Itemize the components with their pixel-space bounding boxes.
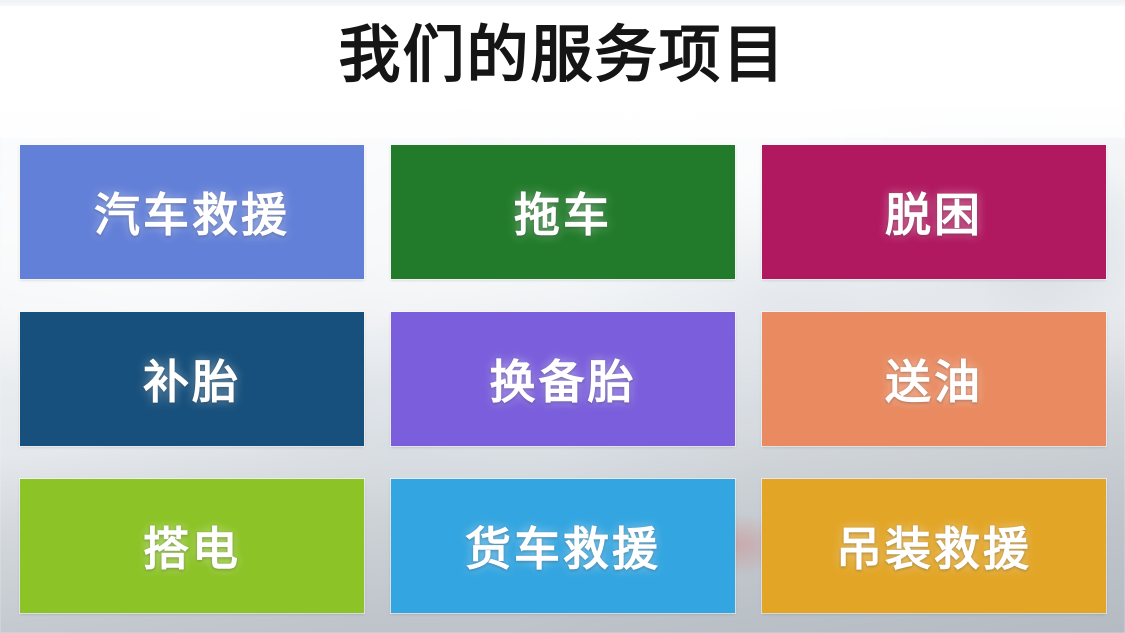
service-tile-9[interactable]: 吊装救援: [762, 479, 1106, 613]
service-tile-1[interactable]: 汽车救援: [20, 145, 364, 279]
service-tile-label: 搭电: [143, 513, 241, 579]
service-tile-label: 吊装救援: [836, 513, 1032, 579]
service-tile-2[interactable]: 拖车: [391, 145, 735, 279]
service-tile-label: 换备胎: [490, 346, 637, 412]
service-tile-5[interactable]: 换备胎: [391, 312, 735, 446]
service-tile-label: 脱困: [885, 179, 983, 245]
service-tile-label: 送油: [885, 346, 983, 412]
service-tile-7[interactable]: 搭电: [20, 479, 364, 613]
service-tile-label: 拖车: [514, 179, 612, 245]
service-tile-label: 货车救援: [465, 513, 661, 579]
service-tile-8[interactable]: 货车救援: [391, 479, 735, 613]
service-tile-6[interactable]: 送油: [762, 312, 1106, 446]
service-tile-label: 汽车救援: [94, 179, 290, 245]
service-tile-3[interactable]: 脱困: [762, 145, 1106, 279]
service-poster: 我们的服务项目 汽车救援 拖车 脱困 补胎 换备胎 送油 搭电 货车救援 吊装救…: [0, 0, 1125, 633]
page-title: 我们的服务项目: [0, 20, 1125, 91]
service-tile-grid: 汽车救援 拖车 脱困 补胎 换备胎 送油 搭电 货车救援 吊装救援: [20, 145, 1105, 613]
service-tile-4[interactable]: 补胎: [20, 312, 364, 446]
service-tile-label: 补胎: [143, 346, 241, 412]
